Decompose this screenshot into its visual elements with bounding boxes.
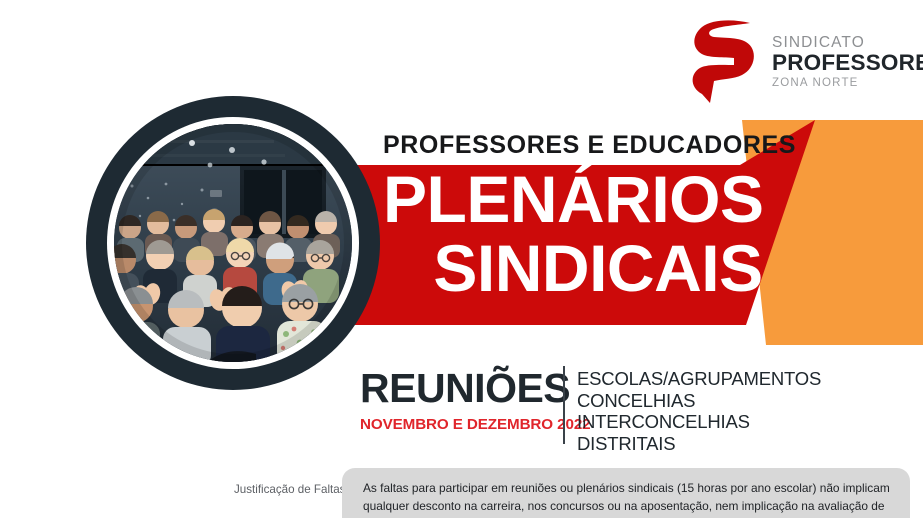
- brand-line-zona-norte: ZONA NORTE: [772, 78, 923, 90]
- meetings-block: REUNIÕES NOVEMBRO E DEZEMBRO 2022: [360, 368, 560, 433]
- hero-title: PLENÁRIOS SINDICAIS: [383, 168, 813, 299]
- poster-canvas: SINDICATO PROFESSORES ZONA NORTE PROFESS…: [0, 0, 923, 518]
- hero-title-line1: PLENÁRIOS: [383, 168, 813, 231]
- scope-item-concelhias: CONCELHIAS: [577, 390, 821, 412]
- hero-title-line2: SINDICAIS: [383, 237, 813, 300]
- scope-item-escolas: ESCOLAS/AGRUPAMENTOS: [577, 368, 821, 390]
- footer-label: Justificação de Faltas:: [234, 483, 349, 496]
- vertical-divider: [563, 366, 565, 444]
- sp-speech-bubble-logo-icon: [688, 17, 762, 103]
- brand-logo: SINDICATO PROFESSORES ZONA NORTE: [688, 16, 908, 104]
- brand-line-sindicato: SINDICATO: [772, 35, 923, 51]
- scope-item-distritais: DISTRITAIS: [577, 433, 821, 455]
- footer-note-text: As faltas para participar em reuniões ou…: [363, 479, 892, 518]
- photo-ring-inner: [107, 117, 359, 369]
- meetings-date: NOVEMBRO E DEZEMBRO 2022: [360, 416, 560, 433]
- meetings-scope-list: ESCOLAS/AGRUPAMENTOS CONCELHIAS INTERCON…: [577, 368, 821, 455]
- photo-ring-outer: [86, 96, 380, 390]
- meetings-title: REUNIÕES: [360, 368, 560, 409]
- hero-kicker: PROFESSORES E EDUCADORES: [383, 131, 796, 160]
- brand-wordmark: SINDICATO PROFESSORES ZONA NORTE: [772, 31, 923, 90]
- footer-note-box: As faltas para participar em reuniões ou…: [342, 468, 910, 518]
- audience-photo: [114, 124, 352, 362]
- brand-line-professores: PROFESSORES: [772, 52, 923, 75]
- logo-path: [693, 20, 754, 103]
- scope-item-interconcelhias: INTERCONCELHIAS: [577, 411, 821, 433]
